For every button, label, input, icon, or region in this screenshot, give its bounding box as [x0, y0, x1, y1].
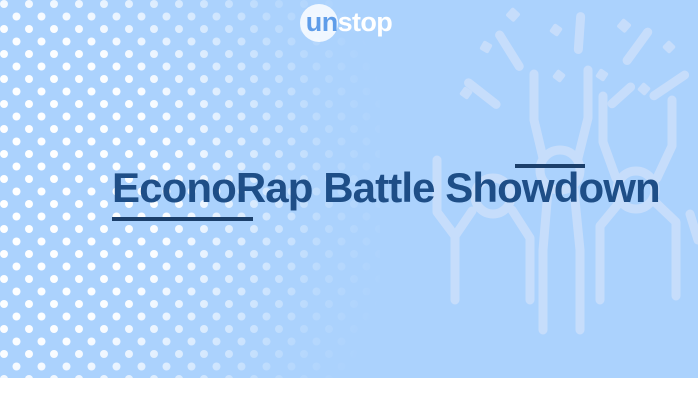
unstop-logo-wordmark: unstop: [306, 9, 392, 36]
unstop-logo[interactable]: unstop: [0, 9, 698, 36]
title-underline-rule: [112, 217, 253, 221]
logo-text-un: un: [306, 7, 338, 37]
hero-banner: unstop EconoRap Battle Showdown: [0, 0, 698, 378]
page-title: EconoRap Battle Showdown: [112, 166, 660, 210]
logo-text-stop: stop: [338, 7, 393, 37]
banner-canvas: unstop EconoRap Battle Showdown: [0, 0, 698, 400]
title-block: EconoRap Battle Showdown: [112, 166, 660, 210]
